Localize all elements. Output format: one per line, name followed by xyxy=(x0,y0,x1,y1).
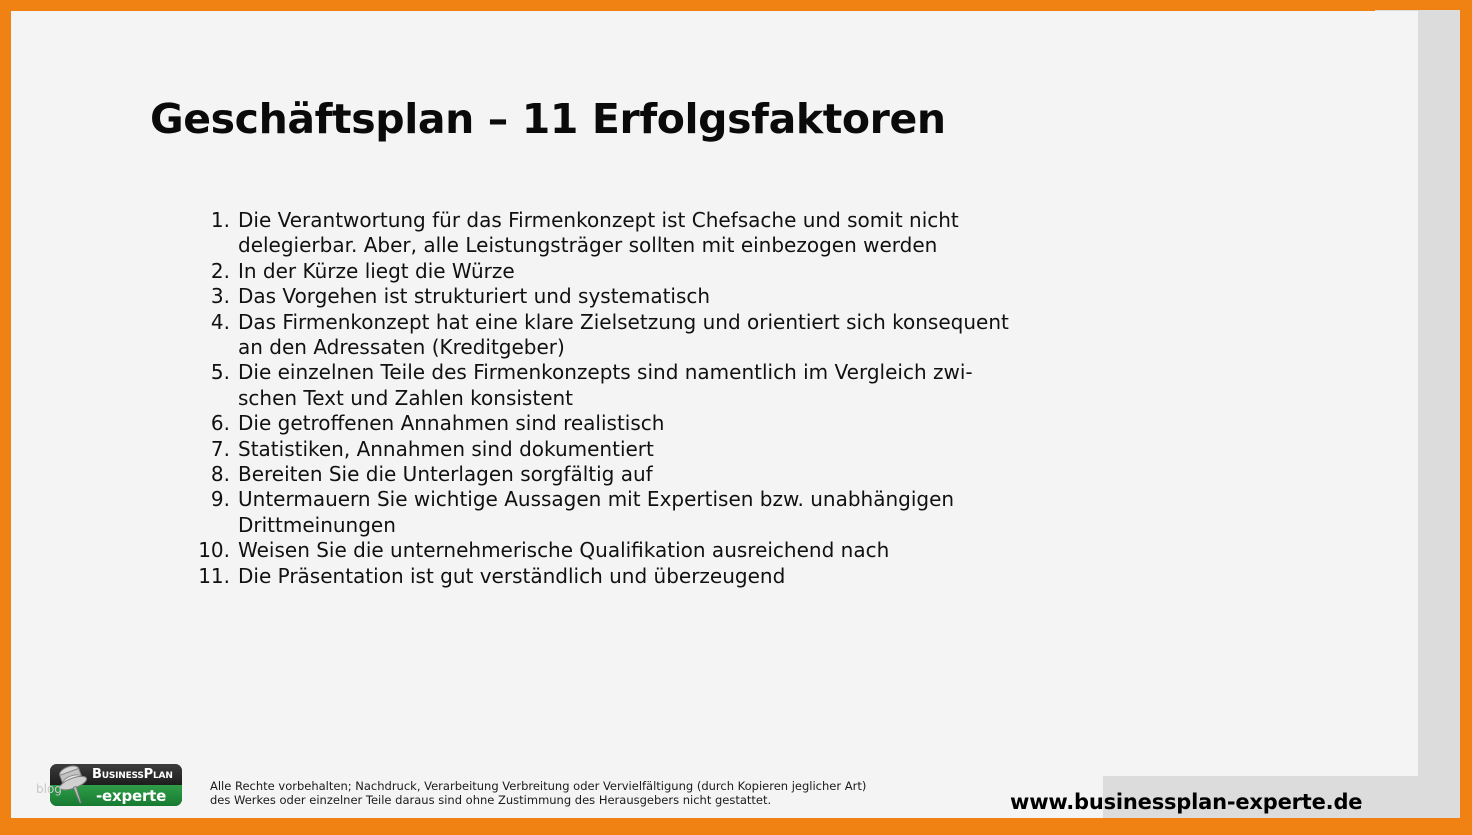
presentation-slide: Geschäftsplan – 11 Erfolgsfaktoren 1.Die… xyxy=(0,0,1472,835)
list-item-number: 5. xyxy=(196,360,238,385)
list-item-text: Das Vorgehen ist strukturiert und system… xyxy=(238,284,1096,309)
list-item-text: Statistiken, Annahmen sind dokumentiert xyxy=(238,437,1096,462)
list-item: 3.Das Vorgehen ist strukturiert und syst… xyxy=(196,284,1096,309)
list-item-text: Die Verantwortung für das Firmenkonzept … xyxy=(238,208,1096,259)
copyright-notice: Alle Rechte vorbehalten; Nachdruck, Vera… xyxy=(210,779,866,807)
slide-title: Geschäftsplan – 11 Erfolgsfaktoren xyxy=(150,95,946,143)
logo-primary-text: BusinessPlan xyxy=(92,767,173,782)
list-item-number: 8. xyxy=(196,462,238,487)
list-item: 6.Die getroffenen Annahmen sind realisti… xyxy=(196,411,1096,436)
list-item: 5.Die einzelnen Teile des Firmenkonzepts… xyxy=(196,360,1096,411)
website-url: www.businessplan-experte.de xyxy=(1010,790,1362,814)
businessplan-experte-logo[interactable]: BusinessPlan -experte xyxy=(50,764,182,806)
list-item-number: 10. xyxy=(196,538,238,563)
list-item: 8.Bereiten Sie die Unterlagen sorgfältig… xyxy=(196,462,1096,487)
list-item: 11.Die Präsentation ist gut verständlich… xyxy=(196,564,1096,589)
list-item: 1.Die Verantwortung für das Firmenkonzep… xyxy=(196,208,1096,259)
list-item-text: Die Präsentation ist gut verständlich un… xyxy=(238,564,1096,589)
blog-watermark: blog xyxy=(36,782,62,796)
logo-secondary-text: -experte xyxy=(96,787,166,805)
list-item: 9.Untermauern Sie wichtige Aussagen mit … xyxy=(196,487,1096,538)
list-item-number: 2. xyxy=(196,259,238,284)
list-item-number: 1. xyxy=(196,208,238,233)
list-item-text: Bereiten Sie die Unterlagen sorgfältig a… xyxy=(238,462,1096,487)
list-item-number: 6. xyxy=(196,411,238,436)
list-item: 4.Das Firmenkonzept hat eine klare Ziels… xyxy=(196,310,1096,361)
list-item-text: Die einzelnen Teile des Firmenkonzepts s… xyxy=(238,360,1096,411)
list-item-text: In der Kürze liegt die Würze xyxy=(238,259,1096,284)
list-item: 7.Statistiken, Annahmen sind dokumentier… xyxy=(196,437,1096,462)
list-item-text: Die getroffenen Annahmen sind realistisc… xyxy=(238,411,1096,436)
list-item-number: 11. xyxy=(196,564,238,589)
list-item-number: 3. xyxy=(196,284,238,309)
success-factors-list: 1.Die Verantwortung für das Firmenkonzep… xyxy=(196,208,1096,589)
list-item-text: Weisen Sie die unternehmerische Qualifik… xyxy=(238,538,1096,563)
page-shadow-right xyxy=(1418,10,1460,818)
list-item-number: 7. xyxy=(196,437,238,462)
list-item-number: 4. xyxy=(196,310,238,335)
list-item-number: 9. xyxy=(196,487,238,512)
list-item: 10.Weisen Sie die unternehmerische Quali… xyxy=(196,538,1096,563)
list-item-text: Das Firmenkonzept hat eine klare Zielset… xyxy=(238,310,1096,361)
list-item-text: Untermauern Sie wichtige Aussagen mit Ex… xyxy=(238,487,1096,538)
list-item: 2.In der Kürze liegt die Würze xyxy=(196,259,1096,284)
